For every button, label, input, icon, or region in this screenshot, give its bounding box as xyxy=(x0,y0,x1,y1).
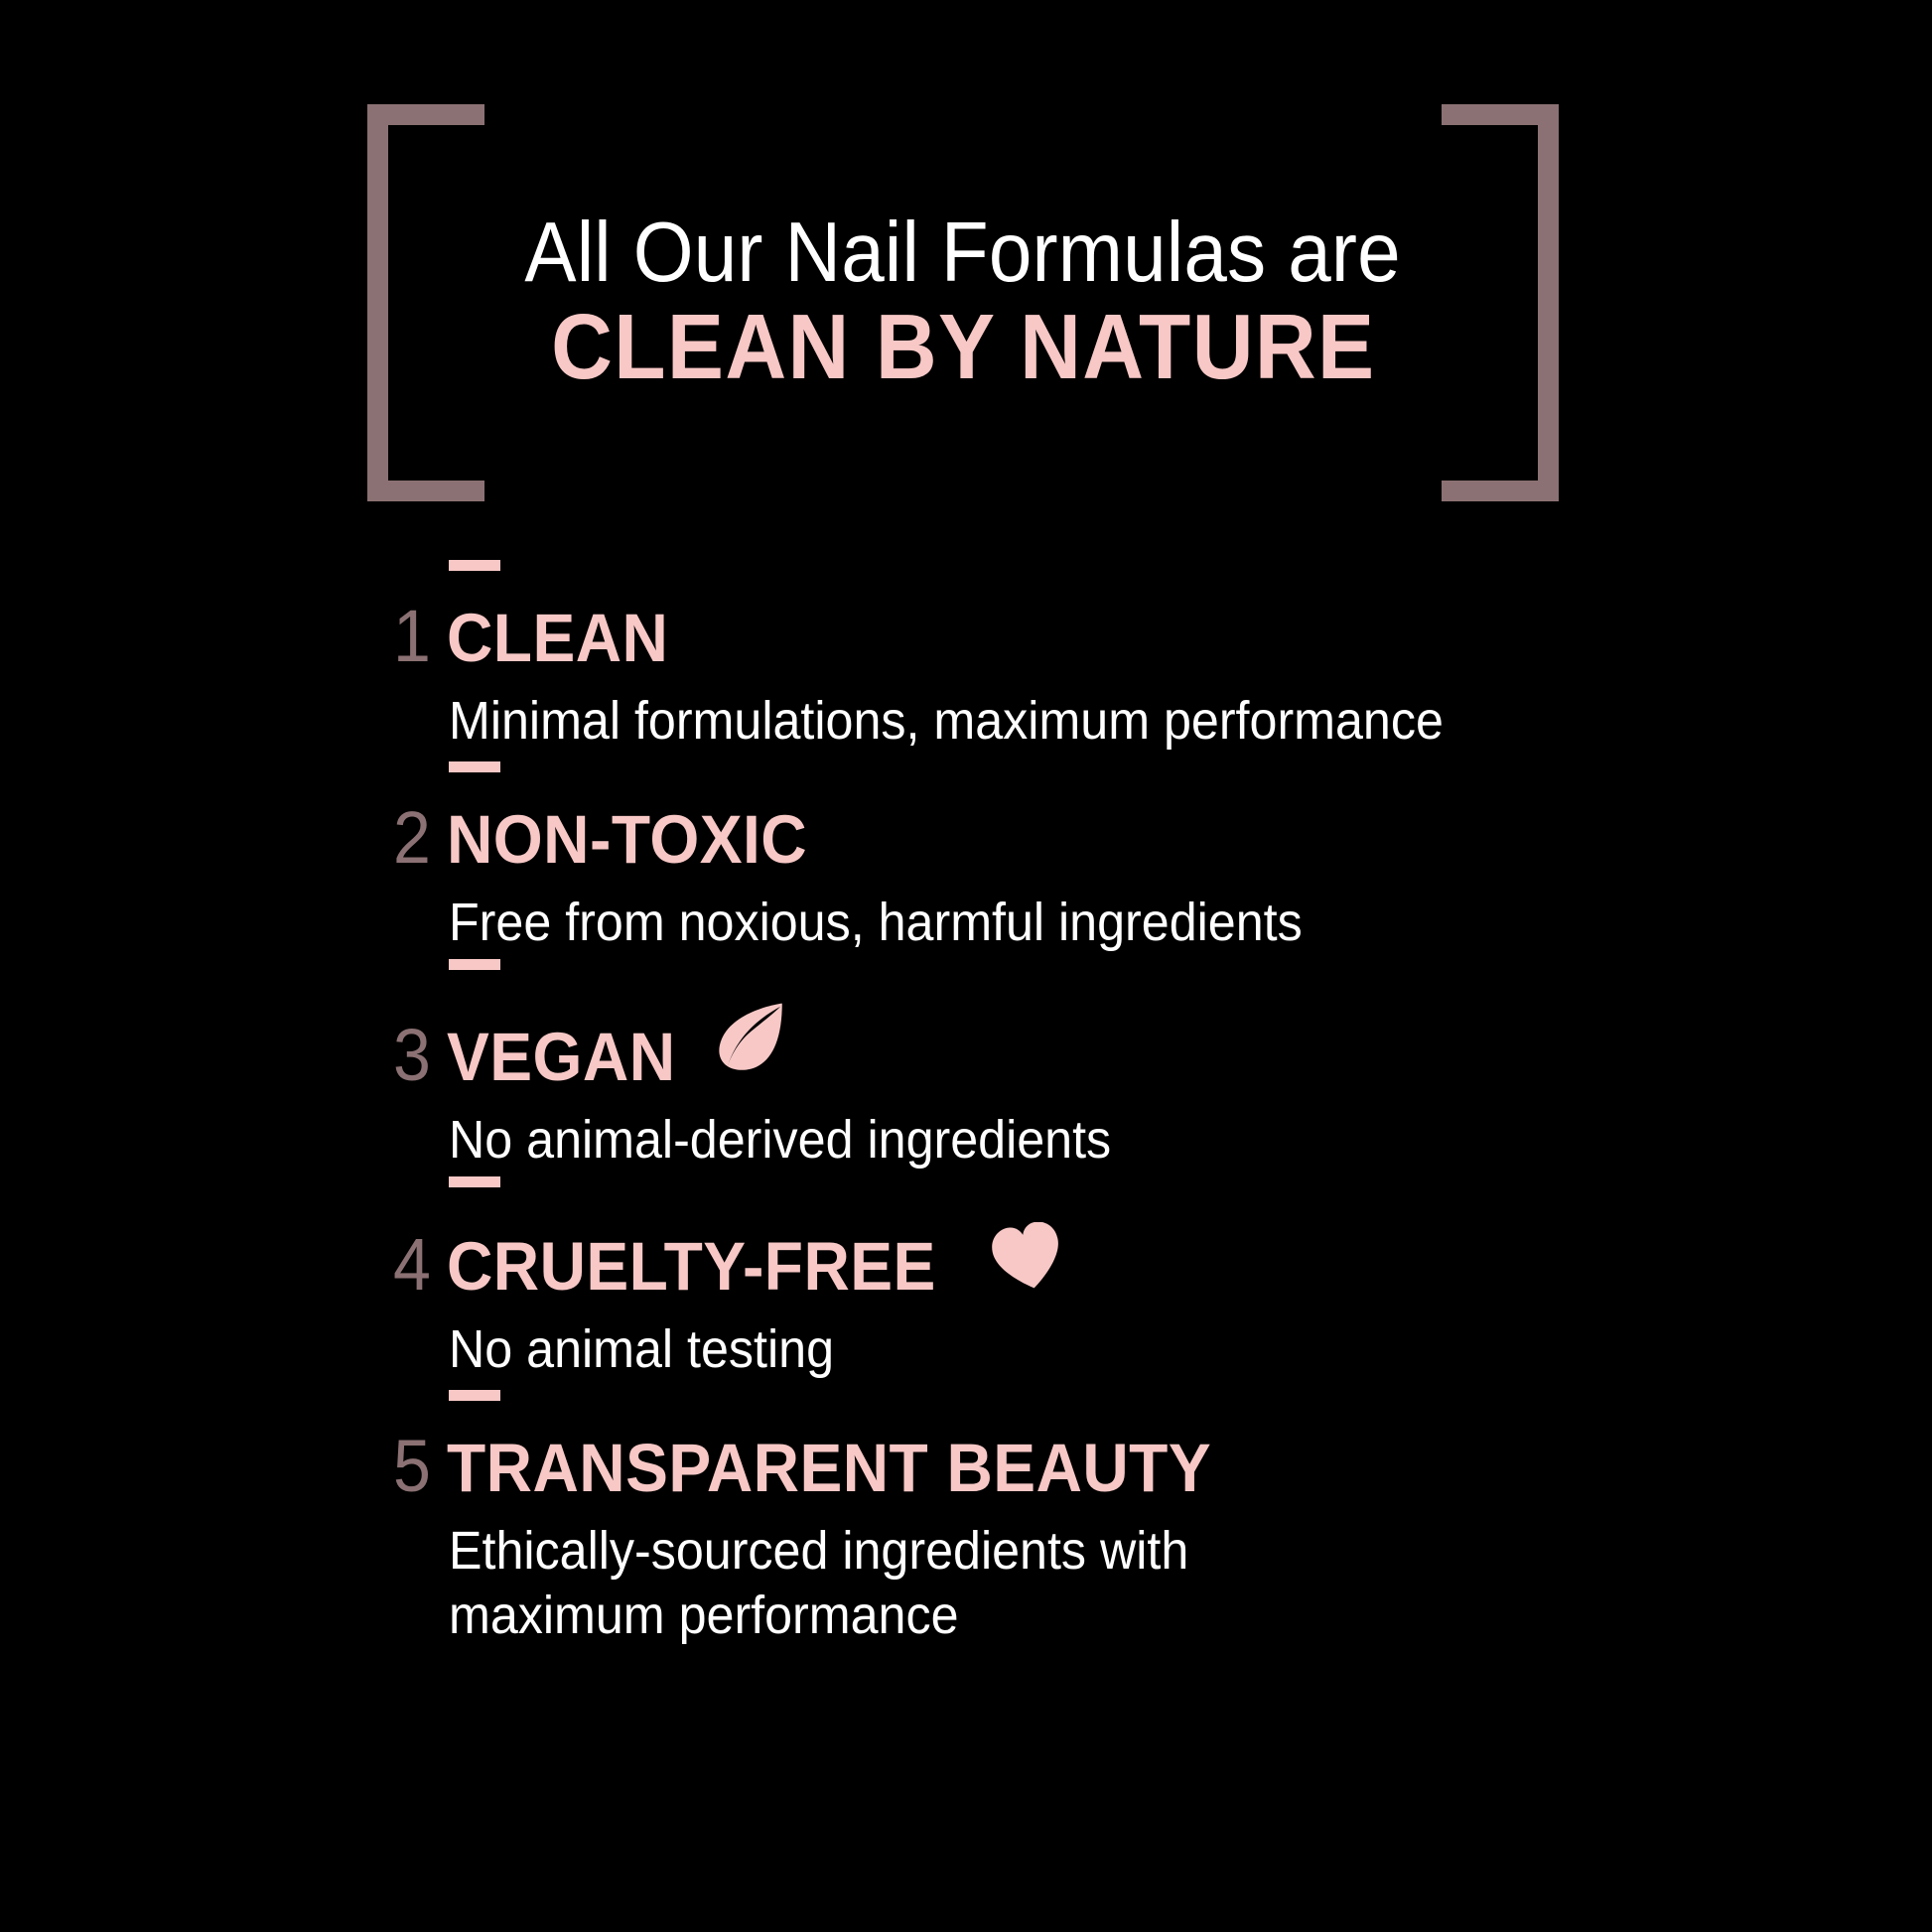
dash-accent-icon xyxy=(449,761,500,772)
list-item-heading: 2 NON-TOXIC xyxy=(393,801,1684,875)
list-item: 3 VEGAN No animal-derived ingredients xyxy=(393,1003,1684,1173)
list-item-number: 4 xyxy=(393,1228,443,1302)
list-item-title-wrap: TRANSPARENT BEAUTY xyxy=(447,1434,1269,1502)
list-item-title: CLEAN xyxy=(447,604,668,672)
headline-line-1: All Our Nail Formulas are xyxy=(525,210,1401,295)
list-item-number: 3 xyxy=(393,1019,443,1092)
header-text-group: All Our Nail Formulas are CLEAN BY NATUR… xyxy=(367,104,1559,501)
heart-icon xyxy=(991,1222,1064,1292)
dash-accent-icon xyxy=(449,1176,500,1187)
header-bracket-block: All Our Nail Formulas are CLEAN BY NATUR… xyxy=(367,104,1559,501)
list-item-title: VEGAN xyxy=(447,1023,676,1091)
dash-accent-icon xyxy=(449,560,500,571)
claims-list: 1 CLEAN Minimal formulations, maximum pe… xyxy=(393,600,1684,1649)
list-item-number: 5 xyxy=(393,1430,443,1503)
list-item-heading: 5 TRANSPARENT BEAUTY xyxy=(393,1430,1684,1503)
list-item-description: Ethically-sourced ingredients with maxim… xyxy=(449,1519,1597,1650)
list-item-title-wrap: CLEAN xyxy=(447,604,685,672)
headline-line-2: CLEAN BY NATURE xyxy=(551,299,1375,396)
list-item-title-wrap: CRUELTY-FREE xyxy=(447,1220,1064,1301)
list-item: 4 CRUELTY-FREE No animal testing xyxy=(393,1220,1684,1383)
list-item-description: Free from noxious, harmful ingredients xyxy=(449,891,1597,956)
list-item: 1 CLEAN Minimal formulations, maximum pe… xyxy=(393,600,1684,755)
list-item-heading: 4 CRUELTY-FREE xyxy=(393,1220,1684,1302)
list-item-heading: 3 VEGAN xyxy=(393,1003,1684,1092)
leaf-icon xyxy=(711,999,788,1076)
list-item-description: No animal testing xyxy=(449,1317,1597,1383)
list-item-number: 2 xyxy=(393,801,443,875)
list-item-title-wrap: NON-TOXIC xyxy=(447,805,834,874)
dash-accent-icon xyxy=(449,1390,500,1401)
list-item-description: No animal-derived ingredients xyxy=(449,1108,1597,1173)
dash-accent-icon xyxy=(449,959,500,970)
list-item-number: 1 xyxy=(393,600,443,673)
list-item-title-wrap: VEGAN xyxy=(447,1003,788,1091)
list-item-description: Minimal formulations, maximum performanc… xyxy=(449,689,1597,755)
list-item-title: TRANSPARENT BEAUTY xyxy=(447,1434,1211,1502)
list-item-title: NON-TOXIC xyxy=(447,805,807,874)
list-item-heading: 1 CLEAN xyxy=(393,600,1684,673)
poster-root: All Our Nail Formulas are CLEAN BY NATUR… xyxy=(0,0,1932,1932)
list-item-title: CRUELTY-FREE xyxy=(447,1232,936,1301)
list-item: 5 TRANSPARENT BEAUTY Ethically-sourced i… xyxy=(393,1430,1684,1650)
list-item: 2 NON-TOXIC Free from noxious, harmful i… xyxy=(393,801,1684,956)
